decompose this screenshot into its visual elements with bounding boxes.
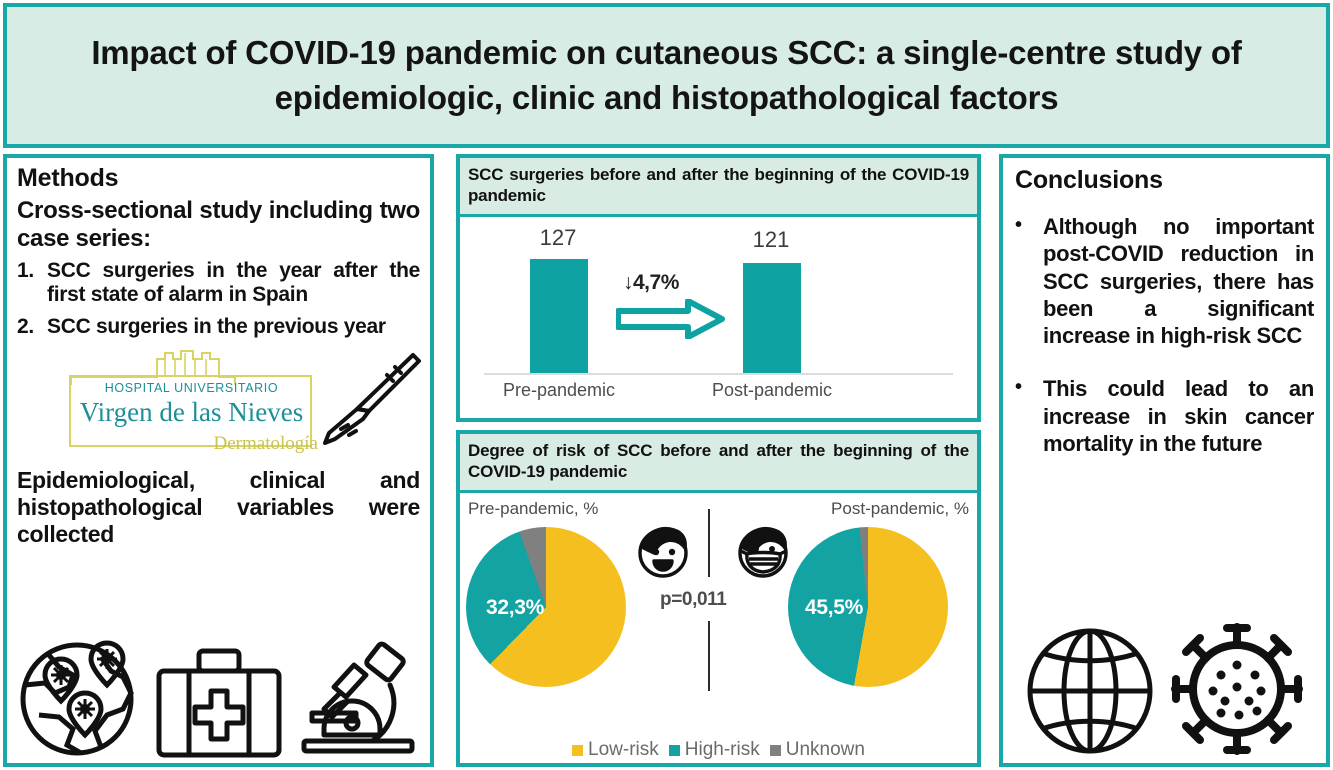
legend-item-high-risk: High-risk bbox=[669, 739, 760, 761]
bar-pre-pandemic bbox=[530, 259, 588, 373]
bar-chart: 127 121 Pre-pandemic Post-pandemic ↓4,7% bbox=[460, 217, 977, 419]
methods-list-item: 1. SCC surgeries in the year after the f… bbox=[17, 259, 420, 309]
conclusions-heading: Conclusions bbox=[1015, 166, 1314, 195]
logo-line-name: Virgen de las Nieves bbox=[69, 397, 314, 428]
pie-charts: Pre-pandemic, % Post-pandemic, % 32,3% 4… bbox=[460, 493, 977, 764]
list-text: SCC surgeries in the previous year bbox=[47, 315, 420, 340]
bar-value-post: 121 bbox=[726, 227, 816, 253]
methods-tail-text: Epidemiological, clinical and histopatho… bbox=[17, 467, 420, 548]
medical-briefcase-icon bbox=[153, 645, 285, 759]
hospital-logo: HOSPITAL UNIVERSITARIO Virgen de las Nie… bbox=[69, 349, 314, 457]
legend-swatch-unknown bbox=[770, 745, 781, 756]
methods-icon-row bbox=[15, 637, 422, 759]
legend-item-unknown: Unknown bbox=[770, 739, 865, 761]
legend-label-high-risk: High-risk bbox=[685, 739, 760, 761]
charts-column: SCC surgeries before and after the begin… bbox=[456, 154, 981, 767]
logo-line-department: Dermatología bbox=[214, 433, 318, 455]
bar-label-post: Post-pandemic bbox=[687, 380, 857, 401]
pie-title-post: Post-pandemic, % bbox=[831, 499, 969, 519]
content-area: Methods Cross-sectional study including … bbox=[0, 148, 1333, 770]
bullet-icon: • bbox=[1015, 213, 1043, 349]
conclusion-item: • This could lead to an increase in skin… bbox=[1015, 375, 1314, 457]
methods-column: Methods Cross-sectional study including … bbox=[3, 154, 434, 767]
bar-value-pre: 127 bbox=[513, 225, 603, 251]
methods-lead-text: Cross-sectional study including two case… bbox=[17, 197, 420, 253]
microscope-icon bbox=[294, 641, 422, 759]
masked-face-icon bbox=[732, 521, 794, 583]
decrease-arrow-icon bbox=[616, 299, 726, 339]
pie-label-pre: 32,3% bbox=[486, 596, 544, 620]
list-number: 2. bbox=[17, 315, 47, 340]
bar-label-pre: Pre-pandemic bbox=[474, 380, 644, 401]
hospital-logo-row: HOSPITAL UNIVERSITARIO Virgen de las Nie… bbox=[17, 347, 420, 467]
delta-annotation: ↓4,7% bbox=[623, 271, 679, 295]
conclusions-panel: Conclusions • Although no important post… bbox=[999, 154, 1330, 767]
bar-baseline bbox=[484, 373, 953, 375]
pie-chart-panel: Degree of risk of SCC before and after t… bbox=[456, 430, 981, 767]
pie-chart-header: Degree of risk of SCC before and after t… bbox=[460, 434, 977, 493]
pie-legend: Low-risk High-risk Unknown bbox=[460, 739, 977, 761]
list-number: 1. bbox=[17, 259, 47, 309]
coronavirus-icon bbox=[1169, 621, 1305, 757]
list-text: SCC surgeries in the year after the firs… bbox=[47, 259, 420, 309]
conclusions-column: Conclusions • Although no important post… bbox=[999, 154, 1330, 767]
methods-panel: Methods Cross-sectional study including … bbox=[3, 154, 434, 767]
conclusion-item: • Although no important post-COVID reduc… bbox=[1015, 213, 1314, 349]
divider-top bbox=[708, 509, 710, 577]
pie-title-pre: Pre-pandemic, % bbox=[468, 499, 598, 519]
globe-virus-pins-icon bbox=[15, 637, 143, 759]
scalpel-icon bbox=[317, 347, 427, 457]
conclusion-text: This could lead to an increase in skin c… bbox=[1043, 375, 1314, 457]
divider-bottom bbox=[708, 621, 710, 691]
graphical-abstract: Impact of COVID-19 pandemic on cutaneous… bbox=[0, 0, 1333, 770]
page-title: Impact of COVID-19 pandemic on cutaneous… bbox=[33, 31, 1300, 119]
bullet-icon: • bbox=[1015, 375, 1043, 457]
bar-post-pandemic bbox=[743, 263, 801, 373]
legend-swatch-high-risk bbox=[669, 745, 680, 756]
bar-chart-header: SCC surgeries before and after the begin… bbox=[460, 158, 977, 217]
conclusion-text: Although no important post-COVID reducti… bbox=[1043, 213, 1314, 349]
legend-label-unknown: Unknown bbox=[786, 739, 865, 761]
legend-item-low-risk: Low-risk bbox=[572, 739, 659, 761]
legend-label-low-risk: Low-risk bbox=[588, 739, 659, 761]
globe-grid-icon bbox=[1024, 625, 1156, 757]
legend-swatch-low-risk bbox=[572, 745, 583, 756]
title-banner: Impact of COVID-19 pandemic on cutaneous… bbox=[3, 3, 1330, 148]
methods-list-item: 2. SCC surgeries in the previous year bbox=[17, 315, 420, 340]
logo-line-university: HOSPITAL UNIVERSITARIO bbox=[69, 381, 314, 395]
p-value: p=0,011 bbox=[660, 589, 726, 611]
bar-chart-panel: SCC surgeries before and after the begin… bbox=[456, 154, 981, 422]
pie-label-post: 45,5% bbox=[805, 596, 863, 620]
conclusions-icon-row bbox=[1017, 621, 1312, 757]
smiling-face-icon bbox=[632, 521, 694, 583]
methods-heading: Methods bbox=[17, 164, 420, 193]
